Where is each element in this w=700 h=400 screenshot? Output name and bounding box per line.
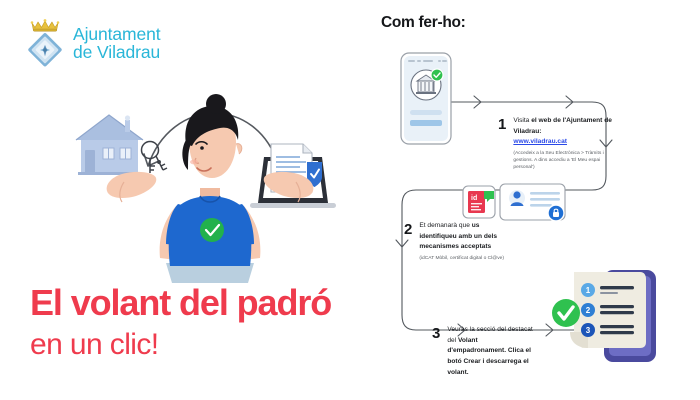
svg-text:1: 1 [586,286,591,295]
hero-illustration [60,78,360,283]
title-line-1: El volant del padró [30,285,331,321]
coat-of-arms-icon [26,31,64,69]
step-1-note: (Accedeix a la Seu Electrònica > Tràmits… [513,150,618,172]
step-3: 3 Veuràs la secció del destacat del Vola… [432,325,536,378]
svg-text:id: id [471,195,477,202]
poster-canvas: Ajuntament de Viladrau [0,0,700,400]
step-2: 2 Et demanarà que us identifiqueu amb un… [404,221,510,262]
step-2-body: Et demanarà que us identifiqueu amb un d… [419,221,510,262]
keys-icon [142,142,168,174]
green-check-badge-icon [431,69,443,81]
title-line-2: en un clic! [30,330,331,360]
page-title: El volant del padró en un clic! [30,285,331,360]
step-2-note: (idCAT Mòbil, certificat digital o Cl@ve… [419,255,510,262]
logo-line-1: Ajuntament [73,25,161,43]
crown-icon [30,18,60,32]
step-3-text-bold: Volant d'empadronament. Clica el botó Cr… [447,337,531,376]
svg-text:3: 3 [586,326,591,335]
house-icon [76,115,143,175]
step-3-body: Veuràs la secció del destacat del Volant… [447,325,536,378]
phone-townhall-icon [400,52,452,145]
step-1: 1 Visita el web de l'Ajuntament de Vilad… [498,116,618,172]
step-2-text-pre: Et demanarà que [419,222,471,229]
howto-header: Com fer-ho: [381,14,466,32]
step-3-number: 3 [432,325,440,378]
step-1-body: Visita el web de l'Ajuntament de Viladra… [513,116,618,172]
ajuntament-logo: Ajuntament de Viladrau [24,18,161,68]
logo-wordmark: Ajuntament de Viladrau [73,25,161,61]
svg-text:2: 2 [586,306,591,315]
step-1-text-pre: Visita [513,117,531,124]
phone-document-checklist-icon: 1 2 3 [552,268,692,374]
logo-line-2: de Viladrau [73,43,161,61]
step-2-number: 2 [404,221,412,262]
green-check-badge-icon [552,299,580,327]
howto-heading: Com fer-ho: [381,14,466,32]
step-1-number: 1 [498,116,506,172]
viladrau-link[interactable]: www.viladrau.cat [513,138,567,145]
logo-mark [24,18,66,68]
idcat-card-icon: id [462,182,566,222]
woman-figure [107,94,314,283]
